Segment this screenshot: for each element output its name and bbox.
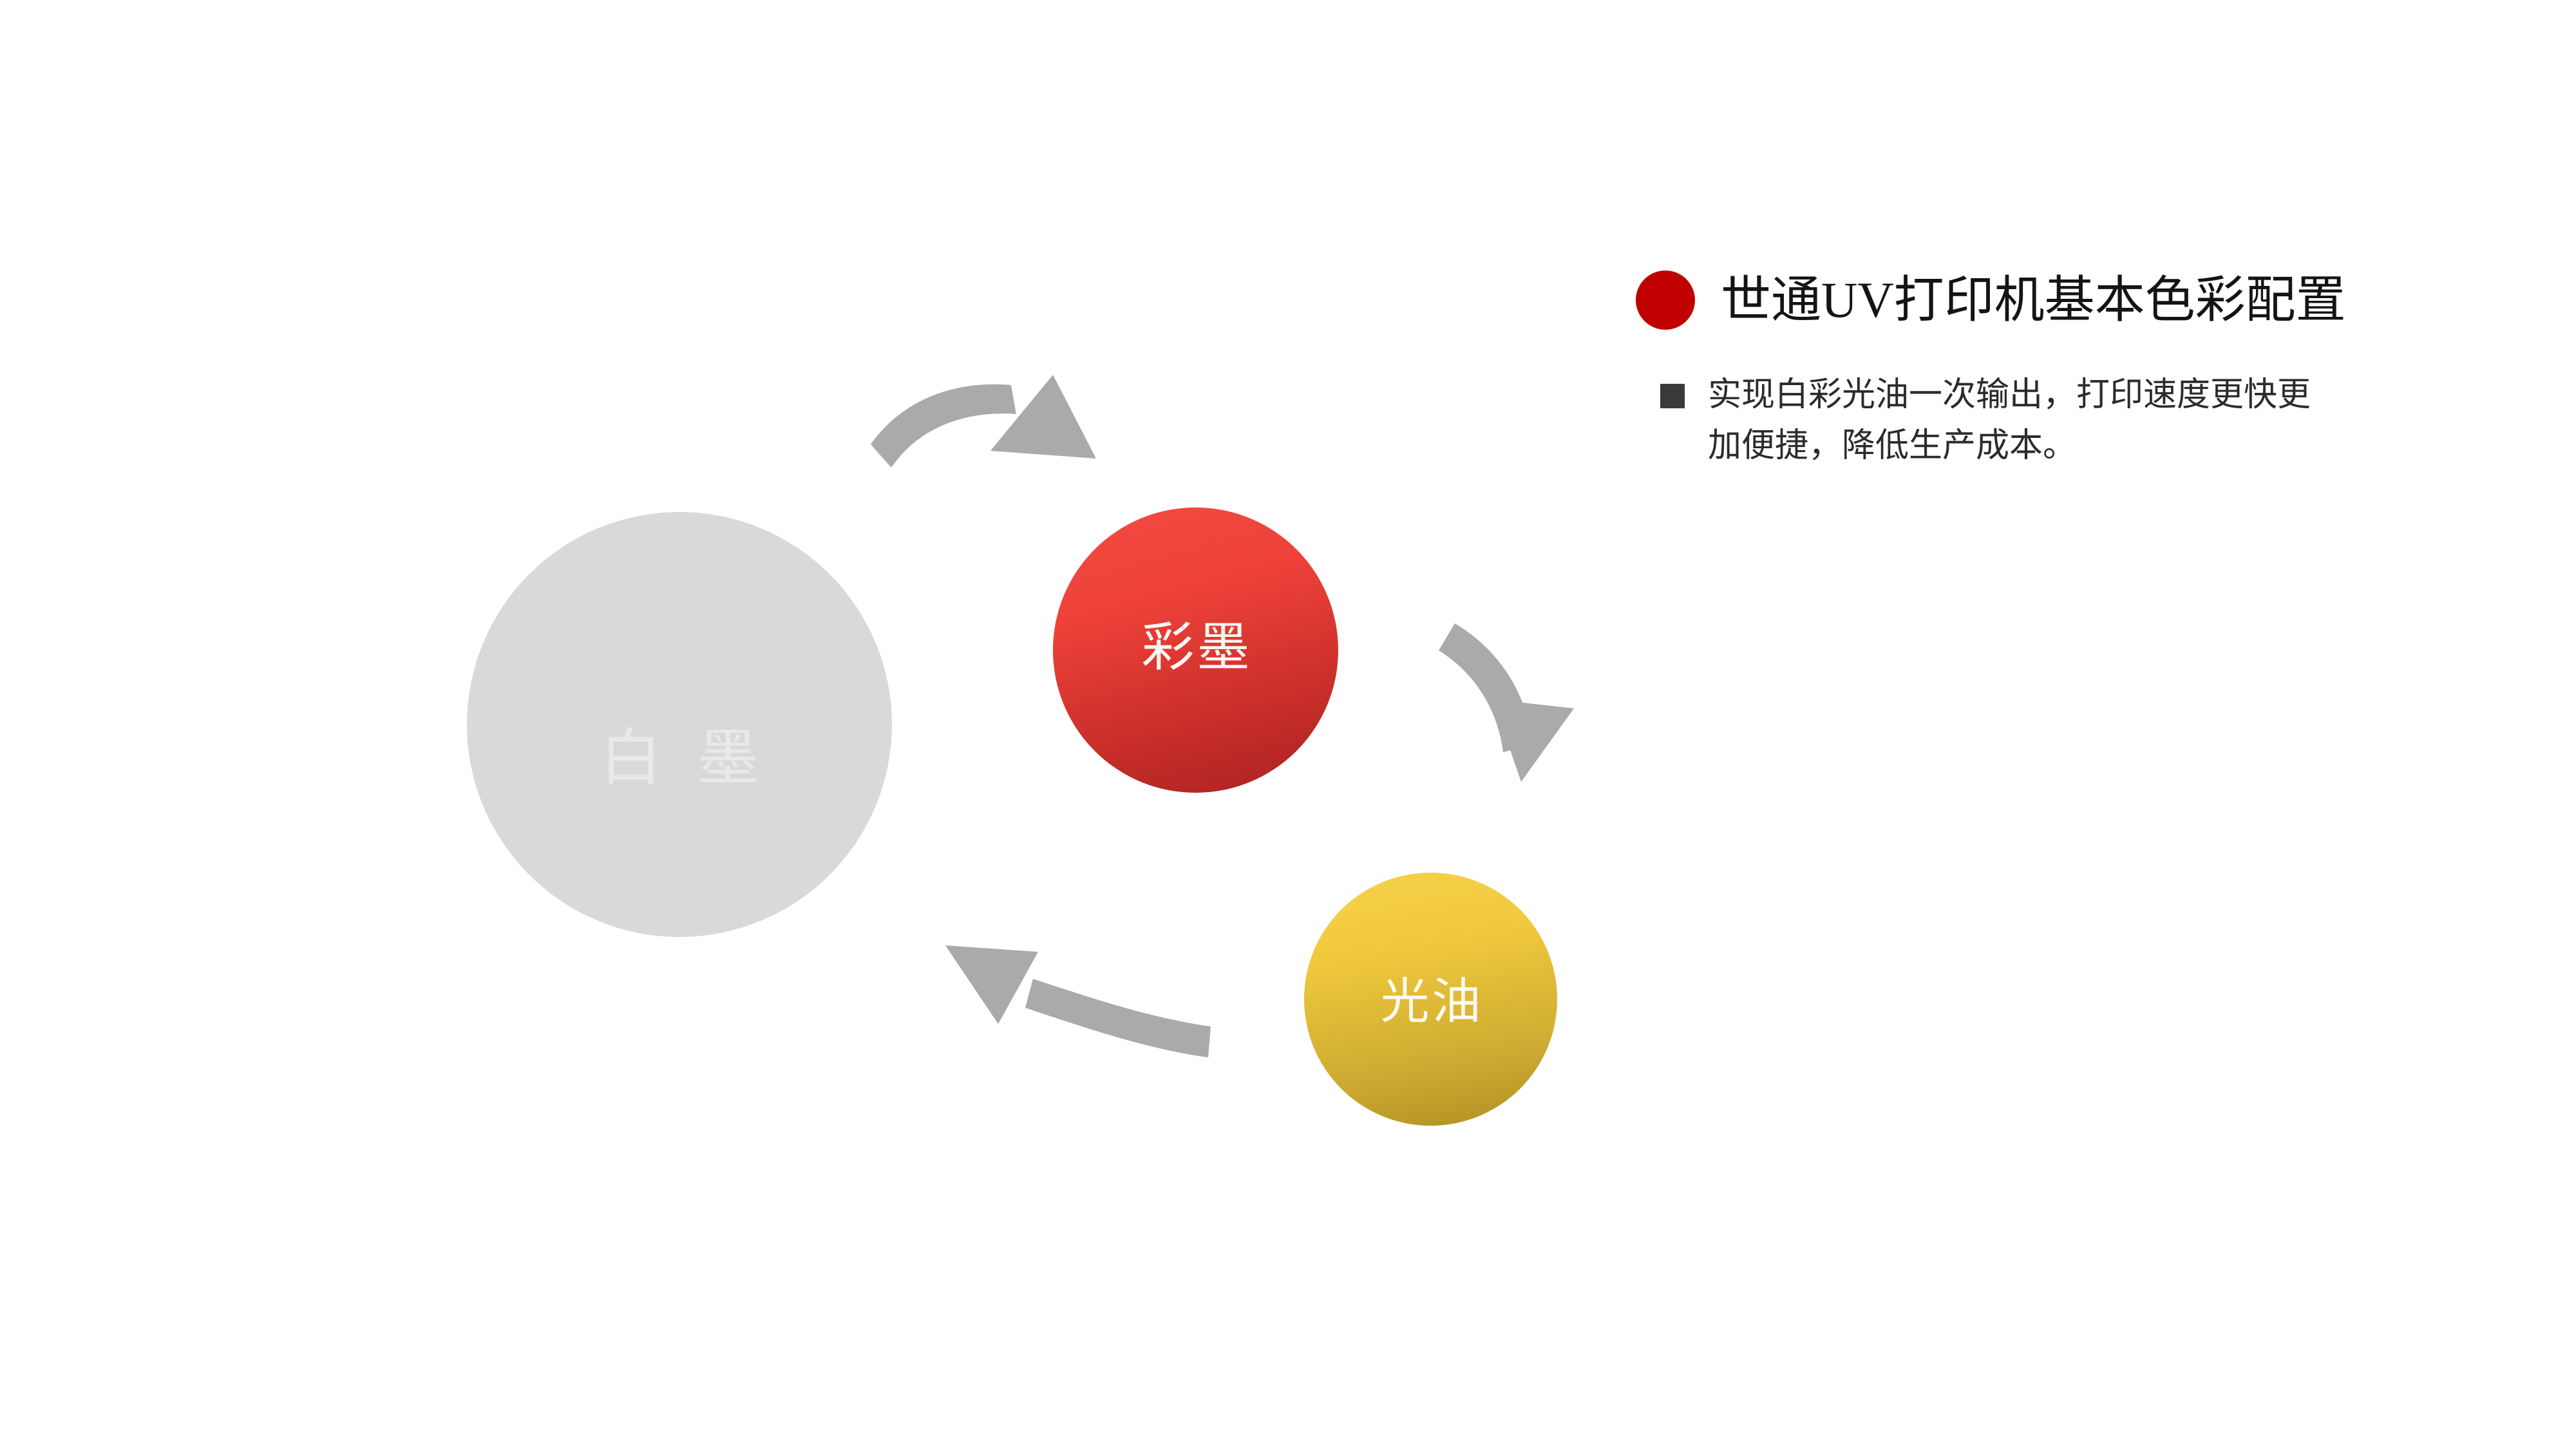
cycle-diagram: 白 墨 彩墨 光油 bbox=[0, 0, 1674, 1449]
body-bullet-square-icon bbox=[1660, 384, 1685, 408]
panel-body-text: 实现白彩光油一次输出，打印速度更快更加便捷，降低生产成本。 bbox=[1708, 370, 2326, 471]
arrow-white-to-color-icon bbox=[871, 375, 1096, 468]
slide-canvas: 白 墨 彩墨 光油 世通UV打印机基本色彩配置 实现白彩光油一次输出，打印速度更… bbox=[0, 0, 2576, 1449]
node-varnish-label: 光油 bbox=[1304, 978, 1557, 1027]
text-panel: 世通UV打印机基本色彩配置 实现白彩光油一次输出，打印速度更快更加便捷，降低生产… bbox=[1636, 270, 2473, 471]
panel-heading-text: 世通UV打印机基本色彩配置 bbox=[1721, 274, 2346, 327]
node-color-ink-label: 彩墨 bbox=[1053, 621, 1338, 674]
node-white-ink-label: 白 墨 bbox=[467, 728, 892, 790]
arrow-varnish-to-white-icon bbox=[945, 945, 1211, 1057]
panel-body: 实现白彩光油一次输出，打印速度更快更加便捷，降低生产成本。 bbox=[1660, 370, 2473, 471]
panel-heading: 世通UV打印机基本色彩配置 bbox=[1636, 270, 2473, 330]
arrow-color-to-varnish-icon bbox=[1439, 623, 1574, 782]
heading-bullet-circle-icon bbox=[1636, 270, 1695, 330]
